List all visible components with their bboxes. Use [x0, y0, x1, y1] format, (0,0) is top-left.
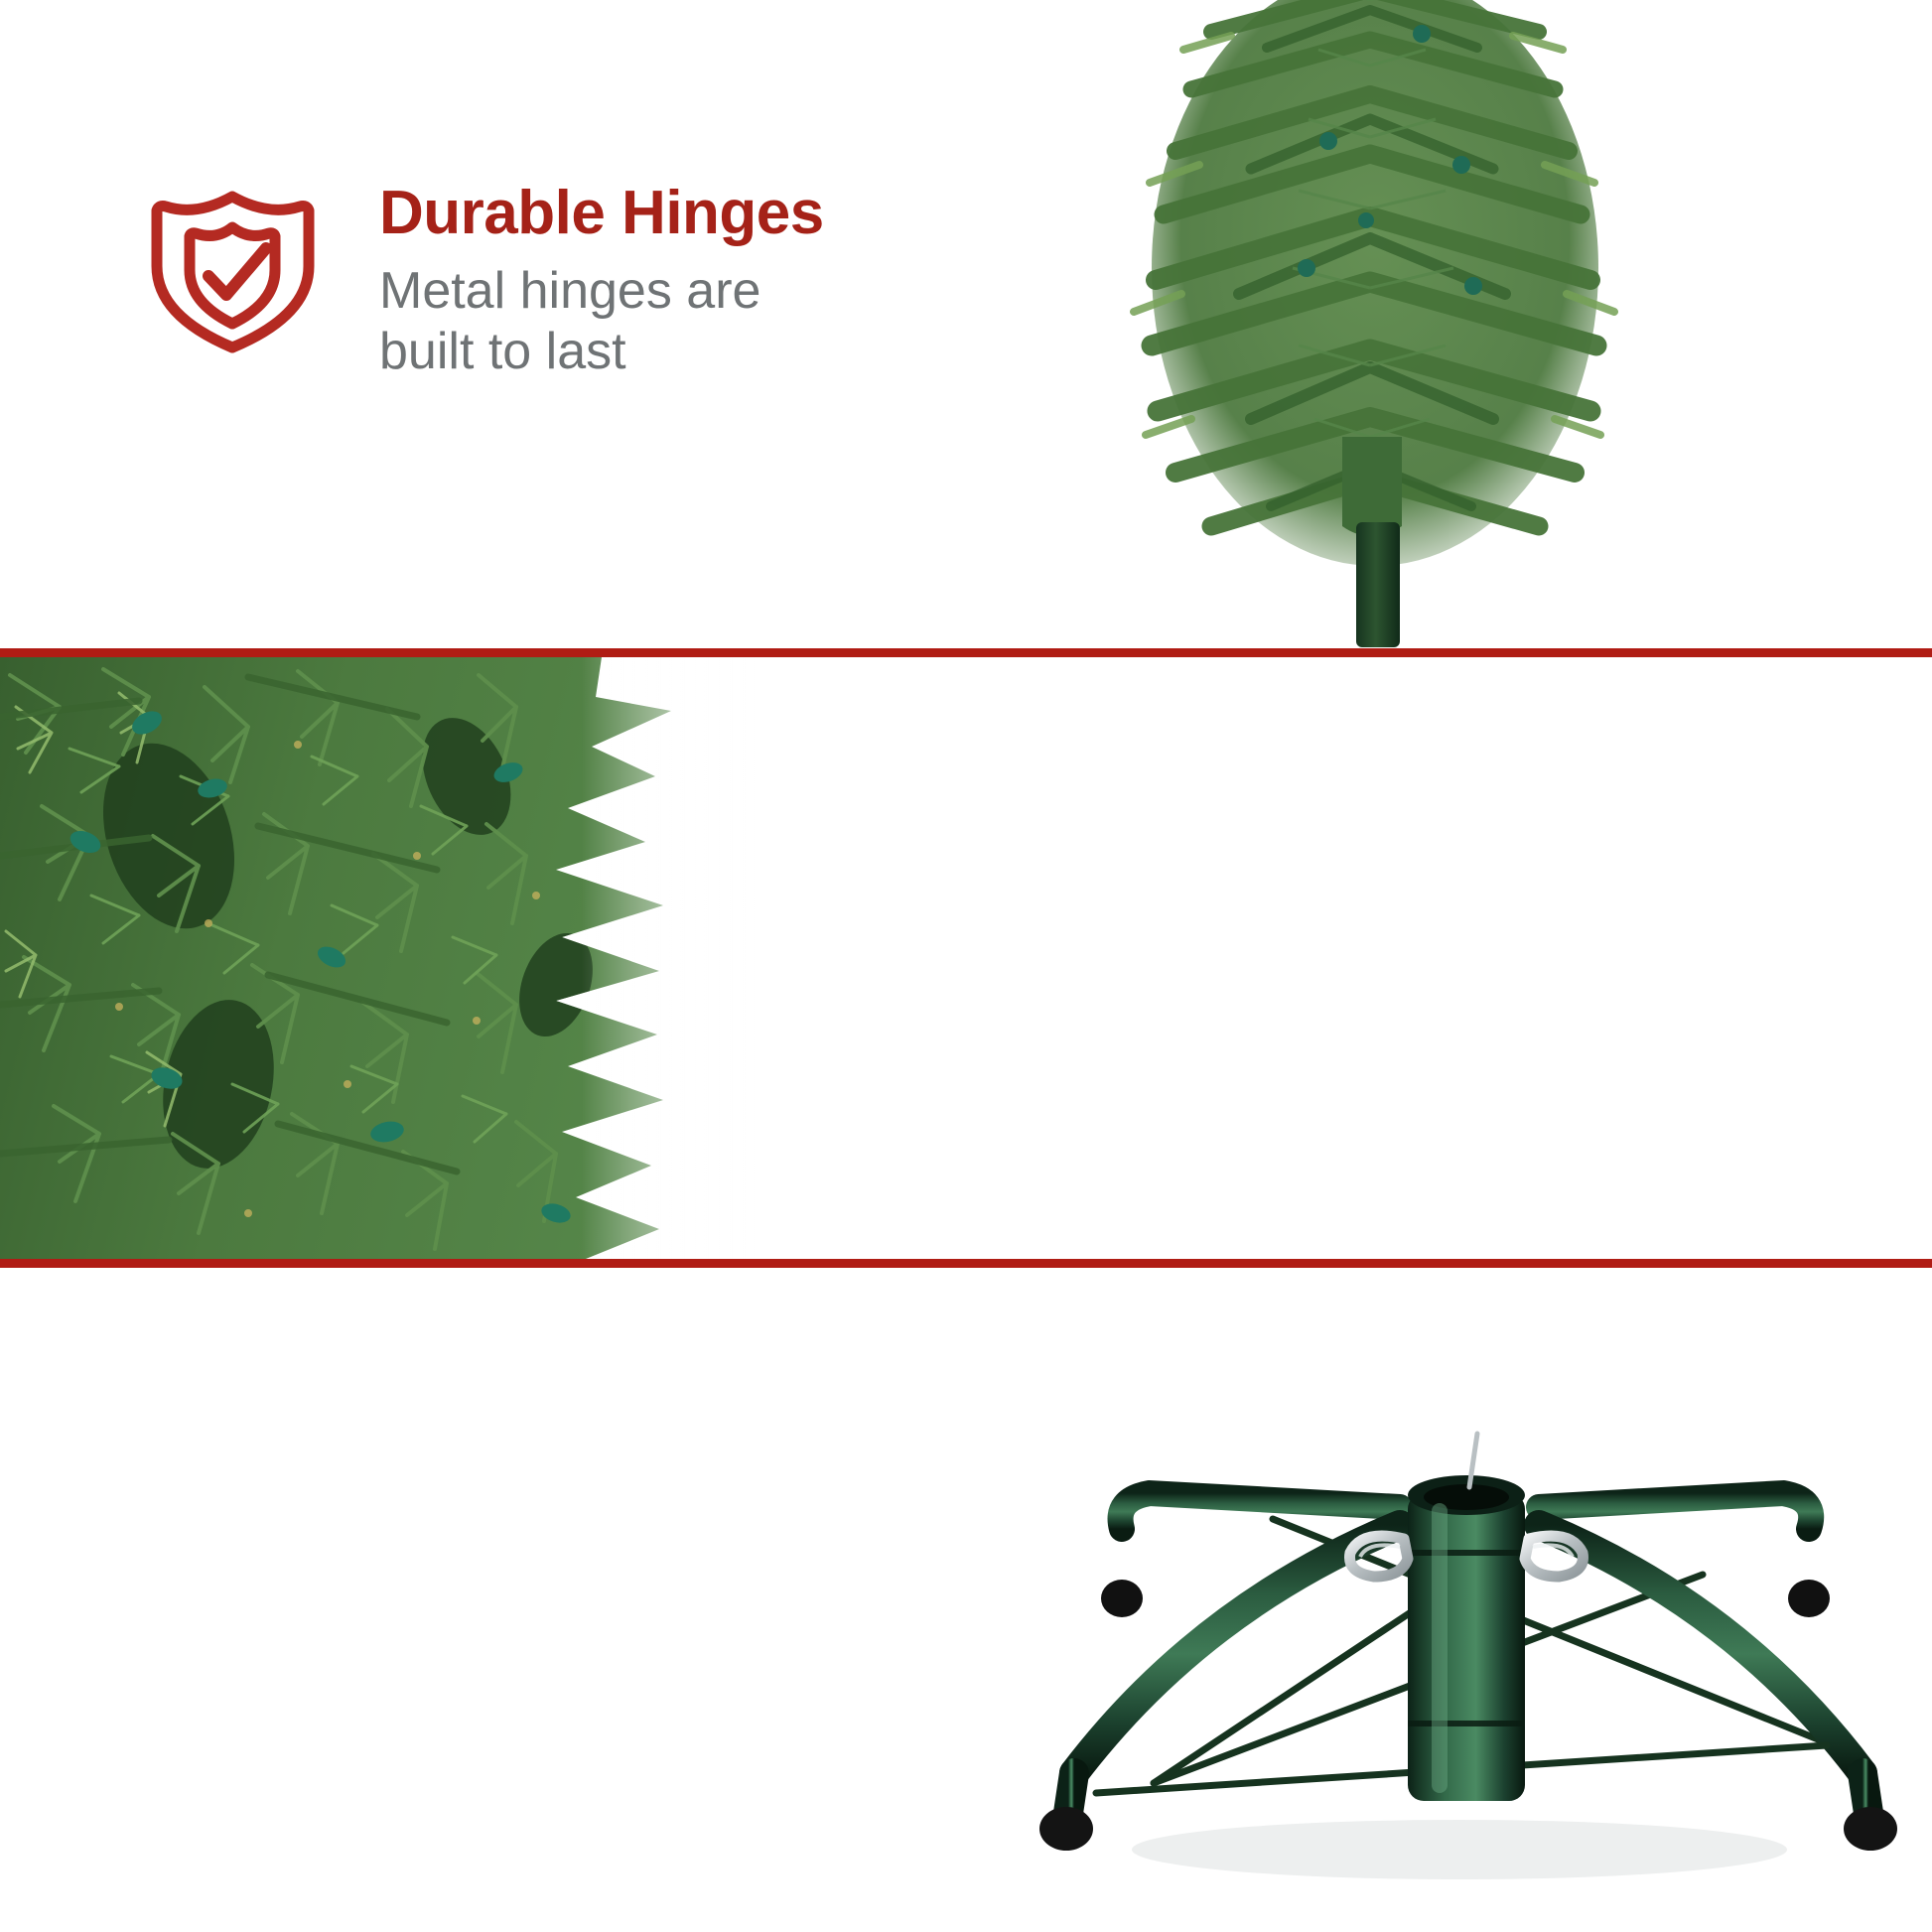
pine-branch-closeup-photo: [0, 657, 755, 1259]
feature-title: Durable Hinges: [379, 181, 824, 245]
christmas-tree-lower-branches-photo: [1072, 0, 1688, 650]
shield-check-icon: [139, 171, 328, 359]
infographic-canvas: Durable Hinges Metal hinges are built to…: [0, 0, 1932, 1932]
section-divider: [0, 1259, 1932, 1268]
section-divider: [0, 648, 1932, 657]
feature-description-line: Metal hinges are: [379, 261, 824, 322]
feature-text-durable-hinges: Durable Hinges Metal hinges are built to…: [379, 171, 824, 383]
feature-durable-hinges: Durable Hinges Metal hinges are built to…: [139, 171, 824, 383]
feature-description: Metal hinges are built to last: [379, 261, 824, 383]
feature-description-line: built to last: [379, 322, 824, 382]
section-durable-hinges: Durable Hinges Metal hinges are built to…: [0, 0, 1932, 650]
section-pvc-branches: PVC Branches Flame-retardant and easy to…: [0, 657, 1932, 1259]
metal-tree-stand-photo: [1003, 1309, 1926, 1904]
section-sturdy-base: Sturdy Base A reliable stand for your tr…: [0, 1269, 1932, 1932]
